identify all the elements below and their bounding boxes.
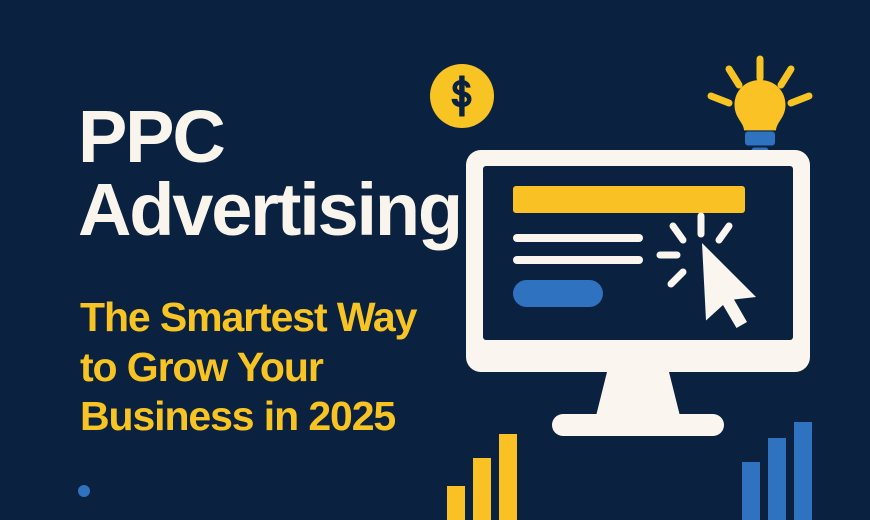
bar-1 bbox=[447, 486, 465, 520]
bar-2 bbox=[473, 458, 491, 520]
computer-monitor bbox=[466, 150, 810, 440]
ad-text-line bbox=[513, 256, 643, 264]
page-title: PPC Advertising bbox=[78, 100, 461, 247]
bulb-glass bbox=[735, 80, 786, 130]
ppc-advertising-banner: PPC Advertising The Smartest Way to Grow… bbox=[0, 0, 870, 520]
headline-line-1: PPC bbox=[78, 100, 461, 173]
bar-1 bbox=[742, 462, 760, 520]
monitor-stand-neck bbox=[596, 368, 680, 416]
subtitle-line-2: to Grow Your bbox=[80, 343, 416, 393]
bar-3 bbox=[499, 434, 517, 520]
growth-bar-chart-yellow bbox=[447, 434, 519, 520]
headline-line-2: Advertising bbox=[78, 173, 461, 246]
subtitle-line-1: The Smartest Way bbox=[80, 293, 416, 343]
light-bulb-icon bbox=[705, 52, 815, 157]
ad-text-line bbox=[513, 234, 643, 242]
subtitle: The Smartest Way to Grow Your Business i… bbox=[80, 293, 416, 442]
monitor-stand-base bbox=[552, 414, 724, 436]
bar-2 bbox=[768, 438, 786, 520]
accent-dot bbox=[78, 485, 90, 497]
ad-headline-bar bbox=[513, 186, 745, 213]
subtitle-line-3: Business in 2025 bbox=[80, 392, 416, 442]
headline-block: PPC Advertising bbox=[78, 100, 461, 247]
ad-cta-button bbox=[513, 280, 603, 307]
